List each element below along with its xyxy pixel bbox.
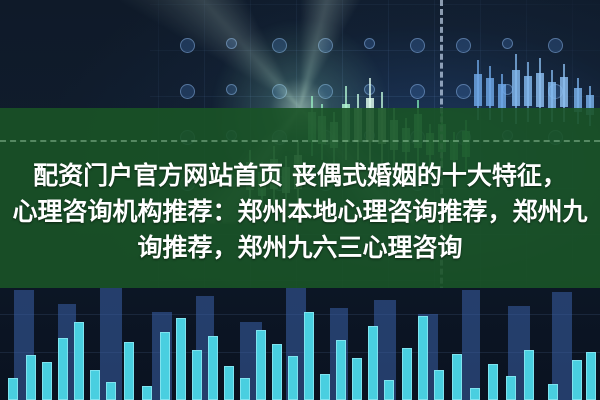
volume-bar — [336, 340, 346, 400]
volume-bar — [58, 338, 68, 400]
volume-bar — [352, 358, 362, 400]
volume-bar — [586, 352, 596, 400]
grid-node — [502, 84, 513, 95]
caption-line-3: 询推荐，郑州九六三心理咨询 — [137, 230, 462, 266]
volume-bar — [548, 384, 558, 400]
candlestick-body — [548, 82, 556, 108]
caption-block: 配资门户官方网站首页 丧偶式婚姻的十大特征， 心理咨询机构推荐：郑州本地心理咨询… — [0, 158, 600, 286]
volume-bar — [8, 378, 18, 400]
volume-bar — [208, 336, 218, 400]
volume-bar — [402, 348, 412, 400]
volume-bar — [320, 374, 330, 400]
candlestick-body — [486, 78, 494, 106]
volume-bar — [42, 362, 52, 400]
volume-bar — [192, 350, 202, 400]
volume-bar — [434, 370, 444, 400]
volume-bar — [106, 382, 116, 400]
banner-image: 配资门户官方网站首页 丧偶式婚姻的十大特征， 心理咨询机构推荐：郑州本地心理咨询… — [0, 0, 600, 400]
candlestick-body — [560, 77, 568, 107]
volume-bar — [240, 378, 250, 400]
volume-bar — [488, 364, 498, 400]
volume-bar — [74, 322, 84, 400]
volume-bar — [470, 388, 480, 400]
volume-bar — [224, 366, 234, 400]
volume-bar — [142, 386, 152, 400]
volume-bar — [384, 380, 394, 400]
volume-bar — [524, 350, 534, 400]
grid-node — [548, 38, 563, 53]
volume-bar — [304, 312, 314, 400]
volume-bar — [368, 326, 378, 400]
volume-bar — [572, 360, 582, 400]
volume-bar-chart — [0, 288, 600, 400]
volume-bar — [160, 332, 170, 400]
volume-background-bar — [462, 290, 480, 400]
candlestick-body — [498, 84, 506, 108]
caption-line-1: 配资门户官方网站首页 丧偶式婚姻的十大特征， — [33, 158, 567, 194]
volume-bar — [90, 370, 100, 400]
candlestick-body — [512, 70, 520, 106]
volume-bar — [256, 330, 266, 400]
candlestick-body — [524, 76, 532, 106]
volume-bar — [26, 355, 36, 400]
volume-bar — [176, 318, 186, 400]
volume-bar — [418, 316, 428, 400]
volume-bar — [288, 356, 298, 400]
candlestick-body — [536, 73, 544, 107]
grid-node — [548, 84, 563, 99]
grid-node — [502, 38, 513, 49]
volume-bar — [506, 376, 516, 400]
dashed-horizontal-marker — [0, 140, 600, 142]
caption-line-2: 心理咨询机构推荐：郑州本地心理咨询推荐，郑州九 — [12, 194, 587, 230]
volume-bar — [272, 344, 282, 400]
volume-bar — [452, 354, 462, 400]
volume-bar — [124, 342, 134, 400]
